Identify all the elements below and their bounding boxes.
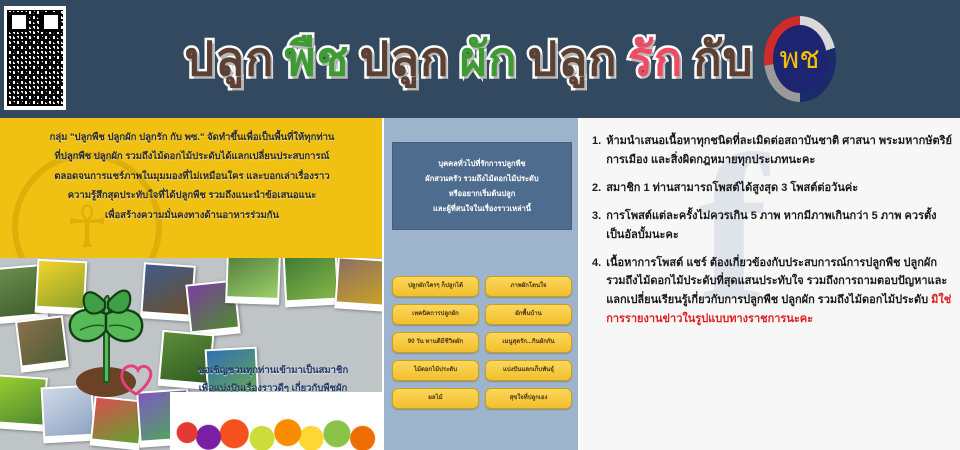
qualification-line-3: หรืออยากเริ่มต้นปลูก (449, 189, 516, 198)
topic-tag-button[interactable]: เมนูสุดรัก...กินผักกัน (485, 332, 572, 353)
topic-tag-button[interactable]: แบ่งปันแลกเก็บพันธุ์ (485, 360, 572, 381)
group-description-line-3: ตลอดจนการแชร์ภาพในมุมมองที่ไม่เหมือนใคร … (8, 167, 376, 186)
title-part-1: ปลูก (184, 34, 274, 83)
membership-qualification-text: บุคคลทั่วไปที่รักการปลูกพืช ผักสวนครัว ร… (419, 156, 544, 216)
collage-photo-image (285, 258, 337, 300)
posting-rules-list: 1. ห้ามนำเสนอเนื้อหาทุกชนิดที่ละเมิดต่อส… (592, 132, 952, 338)
middle-column: บุคคลทั่วไปที่รักการปลูกพืช ผักสวนครัว ร… (384, 118, 580, 450)
rule-text-plain: เนื้อหาการโพสต์ แชร์ ต้องเกี่ยวข้องกับปร… (606, 257, 947, 307)
group-description-line-2: ที่ปลูกพืช ปลูกผัก รวมถึงไม้ดอกไม้ประดับ… (8, 147, 376, 166)
rule-number: 3. (592, 207, 601, 245)
column-divider-right (578, 118, 580, 450)
posting-rule-item: 4. เนื้อหาการโพสต์ แชร์ ต้องเกี่ยวข้องกั… (592, 254, 952, 330)
collage-photo-image (0, 376, 46, 424)
posting-rule-item: 1. ห้ามนำเสนอเนื้อหาทุกชนิดที่ละเมิดต่อส… (592, 132, 952, 170)
topic-tag-button[interactable]: สุขใจที่ปลูกเอง (485, 388, 572, 409)
collage-photo-caption (45, 434, 93, 442)
rule-number: 1. (592, 132, 601, 170)
topic-tag-button[interactable]: 90 วัน ทานดีมีชีวิตผัก (392, 332, 479, 353)
topic-tag-button[interactable]: เทคนิคการปลูกผัก (392, 304, 479, 325)
topic-tag-grid: ปลูกผักใครๆ ก็ปลูกได้ ภาพผักโดนใจ เทคนิค… (392, 276, 572, 409)
collage-photo-image (227, 258, 278, 298)
collage-photo (225, 258, 281, 305)
topic-tag-button[interactable]: ไม้ดอกไม้ประดับ (392, 360, 479, 381)
poster-root: ปลูกพืช ปลูกผัก ปลูกรัก กับ พช คุณสมบัติ… (0, 0, 960, 450)
title-part-4: ผัก (459, 34, 517, 83)
title-part-6: รัก (628, 34, 684, 83)
collage-photo-image (92, 398, 142, 444)
fruit-photo-strip (170, 392, 384, 450)
collage-photo-image (337, 258, 384, 304)
rule-text: สมาชิก 1 ท่านสามารถโพสต์ได้สูงสุด 3 โพสต… (606, 179, 952, 198)
group-description-text-1: กลุ่ม "ปลูกพืช ปลูกผัก ปลูกรัก กับ พซ." … (50, 132, 335, 143)
government-seal-icon: พช (764, 16, 836, 102)
title-part-7: กับ (693, 34, 753, 83)
photo-collage: ขอเชิญชวนทุกท่านเข้ามาเป็นสมาชิก เพื่อแบ… (0, 258, 384, 450)
topic-tag-button[interactable]: ภาพผักโดนใจ (485, 276, 572, 297)
posting-rule-item: 3. การโพสต์แต่ละครั้งไม่ควรเกิน 5 ภาพ หา… (592, 207, 952, 245)
title-part-5: ปลูก (527, 34, 617, 83)
posting-rule-item: 2. สมาชิก 1 ท่านสามารถโพสต์ได้สูงสุด 3 โ… (592, 179, 952, 198)
group-description-line-1: กลุ่ม "ปลูกพืช ปลูกผัก ปลูกรัก กับ พซ." … (8, 128, 376, 147)
title-part-3: ปลูก (359, 34, 449, 83)
qualification-line-1: บุคคลทั่วไปที่รักการปลูกพืช (438, 159, 525, 168)
seal-inner: พช (773, 25, 827, 93)
collage-photo (283, 258, 340, 307)
right-column: f 1. ห้ามนำเสนอเนื้อหาทุกชนิดที่ละเมิดต่… (580, 118, 960, 450)
group-description-line-4: ความรู้สึกสุดประทับใจที่ได้ปลูกพืช รวมถึ… (8, 186, 376, 205)
membership-qualification-panel: บุคคลทั่วไปที่รักการปลูกพืช ผักสวนครัว ร… (392, 142, 572, 230)
group-description: กลุ่ม "ปลูกพืช ปลูกผัก ปลูกรัก กับ พซ." … (8, 128, 376, 225)
rule-text: ห้ามนำเสนอเนื้อหาทุกชนิดที่ละเมิดต่อสถาบ… (606, 132, 952, 170)
title-part-2: พืช (285, 34, 350, 83)
header-banner: ปลูกพืช ปลูกผัก ปลูกรัก กับ พช (0, 0, 960, 118)
topic-tag-button[interactable]: ผลไม้ (392, 388, 479, 409)
rule-text: เนื้อหาการโพสต์ แชร์ ต้องเกี่ยวข้องกับปร… (606, 254, 952, 330)
collage-photo (334, 258, 384, 312)
collage-photo-caption (227, 296, 277, 303)
qualification-line-2: ผักสวนครัว รวมถึงไม้ดอกไม้ประดับ (425, 174, 538, 183)
invitation-line-1: ขอเชิญชวนทุกท่านเข้ามาเป็นสมาชิก (166, 362, 380, 380)
seal-emblem-glyph: พช (780, 44, 820, 74)
group-description-line-5: เพื่อสร้างความมั่นคงทางด้านอาหารร่วมกัน (8, 206, 376, 225)
qr-code[interactable] (4, 6, 66, 110)
rule-number: 4. (592, 254, 601, 330)
rule-number: 2. (592, 179, 601, 198)
qr-code-image (7, 10, 63, 106)
topic-tag-button[interactable]: ผักพื้นบ้าน (485, 304, 572, 325)
qualification-line-4: และผู้ที่สนใจในเรื่องราวเหล่านี้ (433, 204, 531, 213)
seedling-illustration-icon (58, 270, 154, 400)
topic-tag-button[interactable]: ปลูกผักใครๆ ก็ปลูกได้ (392, 276, 479, 297)
rule-text: การโพสต์แต่ละครั้งไม่ควรเกิน 5 ภาพ หากมี… (606, 207, 952, 245)
left-column: ☥ กลุ่ม "ปลูกพืช ปลูกผัก ปลูกรัก กับ พซ.… (0, 118, 384, 450)
poster-title: ปลูกพืช ปลูกผัก ปลูกรัก กับ พช (180, 12, 840, 106)
